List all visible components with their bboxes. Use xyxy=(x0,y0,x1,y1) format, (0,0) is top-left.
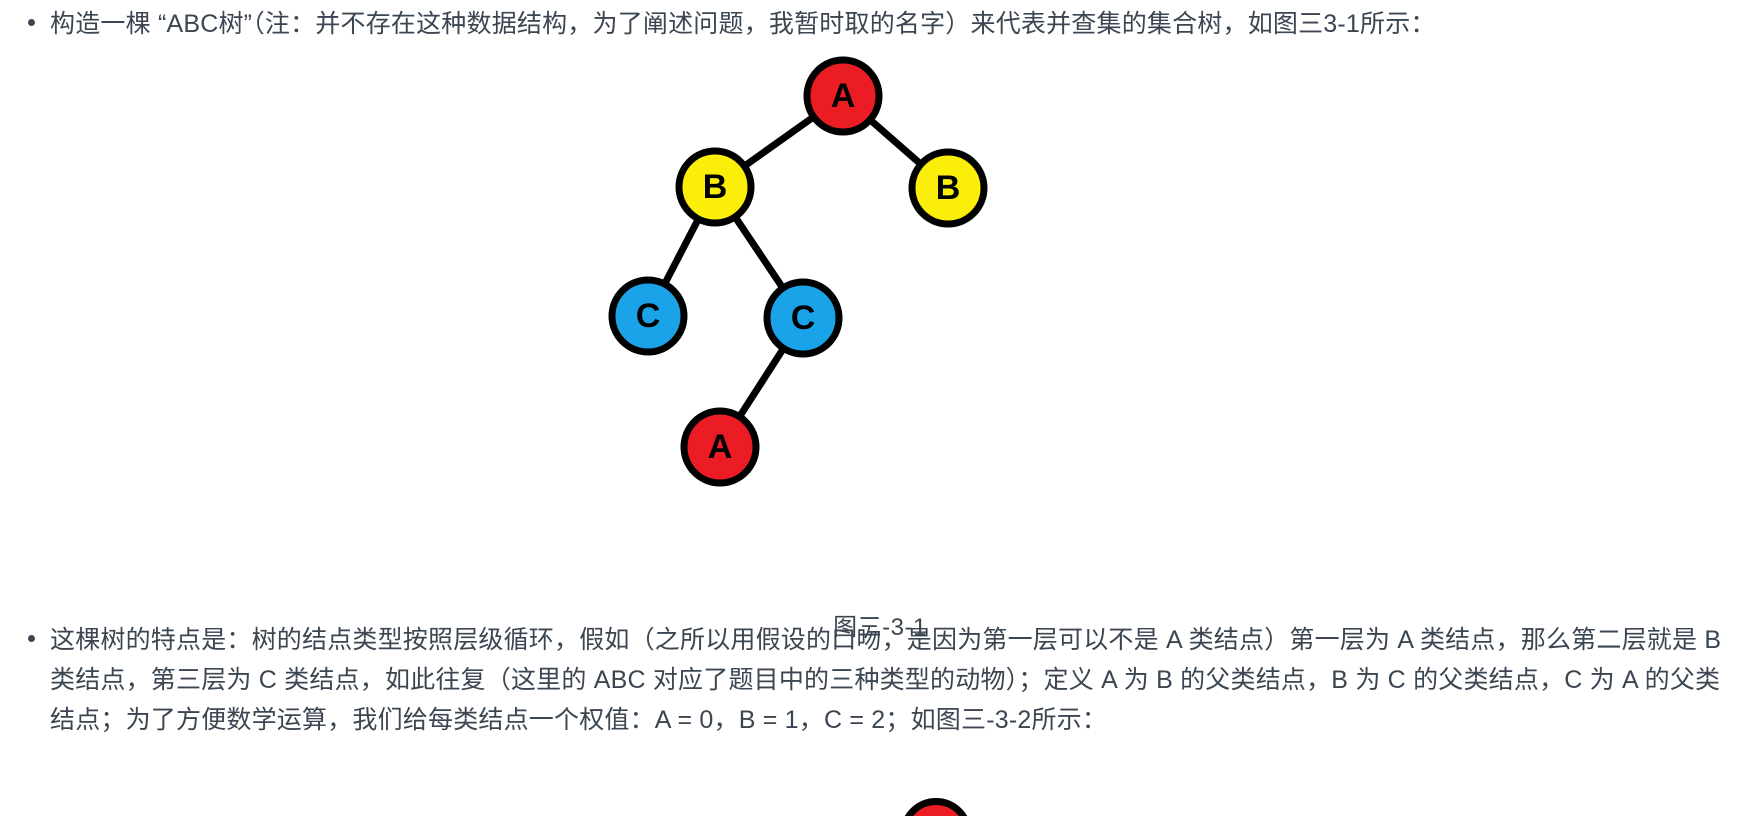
tree-node-label: B xyxy=(703,168,728,206)
tree-node-label: C xyxy=(791,299,816,337)
list-item-text: 构造一棵 “ABC树”（注：并不存在这种数据结构，为了阐述问题，我暂时取的名字）… xyxy=(50,4,1436,44)
tree-node: B xyxy=(679,151,751,223)
bullet-marker-icon xyxy=(28,19,35,26)
tree-node: C xyxy=(612,280,684,352)
tree-node-label: C xyxy=(636,297,661,335)
tree-node: A xyxy=(684,411,756,483)
tree-edges xyxy=(648,96,948,447)
tree-node-label: B xyxy=(936,169,961,207)
bullet-marker-icon xyxy=(28,635,35,642)
tree-node-label: A xyxy=(708,428,733,466)
list-item: 这棵树的特点是：树的结点类型按照层级循环，假如（之所以用假设的口吻，是因为第一层… xyxy=(28,620,1744,740)
list-item-text: 这棵树的特点是：树的结点类型按照层级循环，假如（之所以用假设的口吻，是因为第一层… xyxy=(50,620,1738,740)
tree-node-label: A xyxy=(831,77,856,115)
abc-tree-svg: ABBCCA xyxy=(560,55,1200,600)
tree-node: C xyxy=(767,282,839,354)
tree-node: A xyxy=(807,60,879,132)
next-figure-partial xyxy=(900,798,972,816)
document-page: 构造一棵 “ABC树”（注：并不存在这种数据结构，为了阐述问题，我暂时取的名字）… xyxy=(0,0,1754,816)
tree-node: B xyxy=(912,152,984,224)
list-item: 构造一棵 “ABC树”（注：并不存在这种数据结构，为了阐述问题，我暂时取的名字）… xyxy=(28,4,1740,44)
tree-node-partial-icon xyxy=(900,798,972,816)
abc-tree-figure: ABBCCA 图三-3-1 xyxy=(560,55,1200,600)
